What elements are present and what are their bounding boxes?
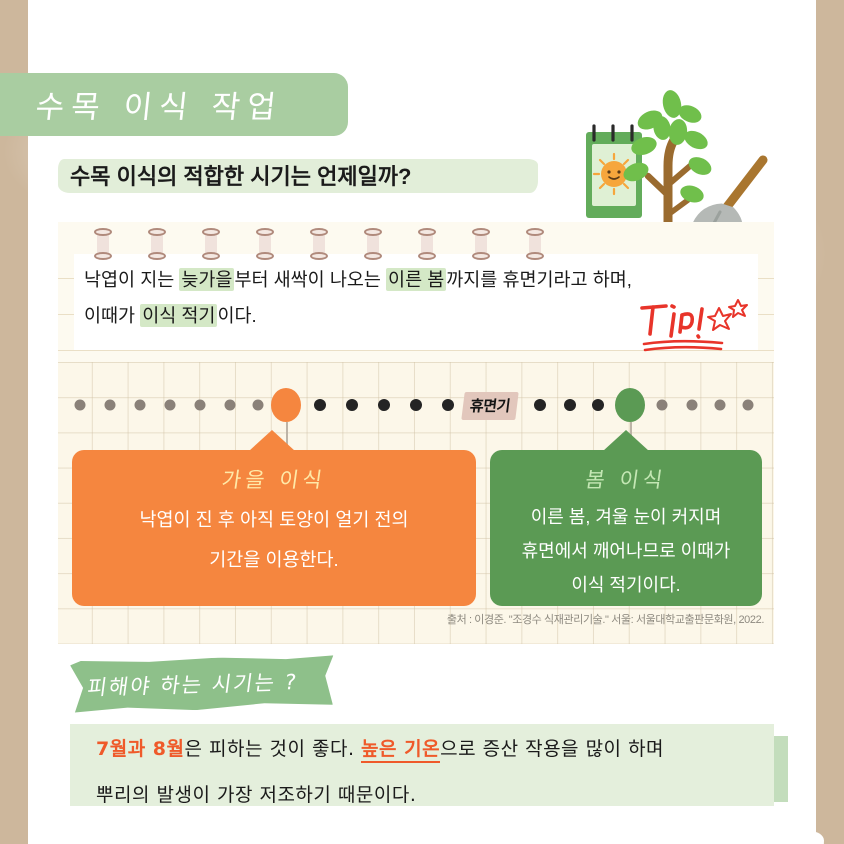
card-body-fall-line1: 낙엽이 진 후 아직 토양이 얼기 전의 <box>72 500 476 540</box>
card-body-fall-line2: 기간을 이용한다. <box>72 540 476 580</box>
card-body-spring-line3: 이식 적기이다. <box>490 568 762 602</box>
card-body-spring-line2: 휴면에서 깨어나므로 이때가 <box>490 534 762 568</box>
intro-note-line-1: 낙엽이 지는 늦가을부터 새싹이 나오는 이른 봄까지를 휴면기라고 하며, <box>84 262 724 298</box>
grid-paper-panel: 휴면기 가을 이식 낙엽이 진 후 아직 토양이 얼기 전의 기간을 이용한다.… <box>58 362 774 644</box>
avoid-info-text: 7월과 8월은 피하는 것이 좋다. 높은 기온으로 증산 작용을 많이 하며 … <box>96 726 756 818</box>
text-segment: 은 피하는 것이 좋다. <box>185 738 362 760</box>
text-segment: 이다. <box>217 305 256 326</box>
spiral-ring <box>472 228 490 260</box>
spiral-ring <box>256 228 274 260</box>
timeline-marker-spring <box>615 388 645 422</box>
question-heading: 수목 이식의 적합한 시기는 언제일까? <box>58 157 422 197</box>
card-body-spring-line1: 이른 봄, 겨울 눈이 커지며 <box>490 500 762 534</box>
season-card-spring: 봄 이식 이른 봄, 겨울 눈이 커지며 휴면에서 깨어나므로 이때가 이식 적… <box>490 450 762 606</box>
source-citation: 출처 : 이경준. "조경수 식재관리기술." 서울: 서울대학교출판문화원, … <box>447 611 764 627</box>
timeline-marker-fall <box>271 388 301 422</box>
spiral-ring <box>310 228 328 260</box>
page-title: 수목 이식 작업 <box>34 81 286 126</box>
highlight-transplant-time: 이식 적기 <box>140 304 217 327</box>
card-pointer-fall <box>249 430 295 451</box>
highlight-late-autumn: 늦가을 <box>179 268 234 291</box>
spiral-ring <box>364 228 382 260</box>
highlight-high-temperature: 높은 기온 <box>361 738 440 763</box>
season-card-fall: 가을 이식 낙엽이 진 후 아직 토양이 얼기 전의 기간을 이용한다. <box>72 450 476 606</box>
text-segment: 으로 증산 작용을 많이 하며 <box>440 738 664 760</box>
card-title-fall: 가을 이식 <box>70 464 478 494</box>
tip-annotation <box>636 296 760 354</box>
text-segment: 부터 새싹이 나오는 <box>234 269 386 290</box>
text-segment: 이때가 <box>84 305 140 326</box>
text-segment: 낙엽이 지는 <box>84 269 179 290</box>
question-text: 수목 이식의 적합한 시기는 언제일까? <box>58 157 422 195</box>
avoid-section-title: 피해야 하는 시기는 ? <box>86 666 300 702</box>
spiral-ring <box>418 228 436 260</box>
spiral-ring <box>148 228 166 260</box>
spiral-ring <box>526 228 544 260</box>
infographic-page: 수목 이식 작업 수목 이식의 적합한 시기는 언제일까? <box>0 0 844 844</box>
spiral-ring <box>202 228 220 260</box>
dormancy-timeline: 휴면기 <box>58 386 774 424</box>
highlight-july-august: 7월과 8월 <box>96 738 185 760</box>
highlight-early-spring: 이른 봄 <box>386 268 446 291</box>
avoid-text-line-2: 뿌리의 발생이 가장 저조하기 때문이다. <box>96 772 756 818</box>
text-segment: 뿌리의 발생이 가장 저조하기 때문이다. <box>96 784 416 806</box>
card-title-spring: 봄 이식 <box>488 464 764 494</box>
intro-note-text: 낙엽이 지는 늦가을부터 새싹이 나오는 이른 봄까지를 휴면기라고 하며, 이… <box>84 262 724 334</box>
dormancy-period-label: 휴면기 <box>461 392 518 420</box>
spiral-ring <box>94 228 112 260</box>
card-pointer-spring <box>603 430 649 451</box>
text-segment: 까지를 휴면기라고 하며, <box>446 269 632 290</box>
intro-note-line-2: 이때가 이식 적기이다. <box>84 298 724 334</box>
title-banner: 수목 이식 작업 <box>0 73 348 136</box>
avoid-text-line-1: 7월과 8월은 피하는 것이 좋다. 높은 기온으로 증산 작용을 많이 하며 <box>96 726 756 772</box>
